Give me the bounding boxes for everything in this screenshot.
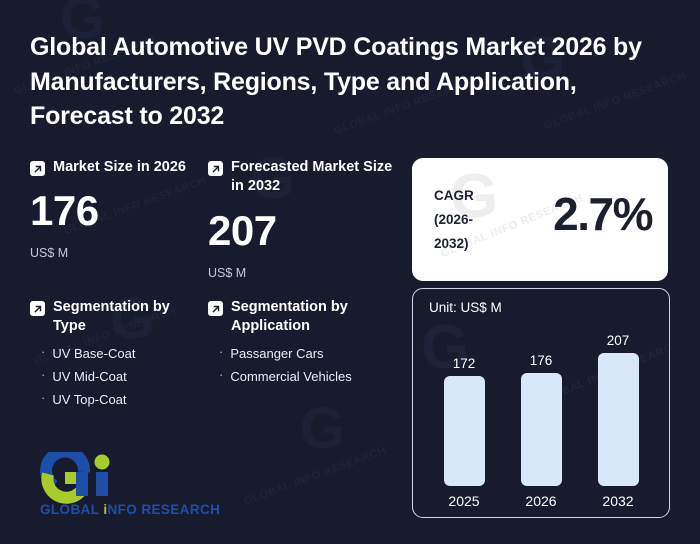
bar-column: 172 2025 bbox=[441, 356, 487, 509]
segmentation-header: Segmentation by Application bbox=[208, 298, 403, 337]
arrow-up-right-icon bbox=[208, 161, 223, 176]
segmentation-heading: Segmentation by Type bbox=[53, 298, 205, 337]
list-item-label: UV Top-Coat bbox=[52, 392, 126, 407]
cagr-label-line3: 2032) bbox=[434, 232, 474, 256]
stat-card-forecast-2032: Forecasted Market Size in 2032 207 US$ M bbox=[208, 158, 403, 280]
bullet-icon: · bbox=[41, 345, 45, 358]
bar-category-label: 2032 bbox=[602, 493, 633, 509]
segmentation-list: · UV Base-Coat · UV Mid-Coat · UV Top-Co… bbox=[30, 346, 205, 407]
bullet-icon: · bbox=[41, 368, 45, 381]
bar-chart-card: G GLOBAL INFO RESEARCH Unit: US$ M 172 2… bbox=[412, 288, 670, 518]
bar-column: 207 2032 bbox=[595, 333, 641, 509]
list-item-label: Passanger Cars bbox=[230, 346, 323, 361]
segmentation-heading: Segmentation by Application bbox=[231, 298, 403, 337]
segmentation-by-application: Segmentation by Application · Passanger … bbox=[208, 298, 403, 392]
arrow-up-right-icon bbox=[30, 301, 45, 316]
arrow-up-right-icon bbox=[30, 161, 45, 176]
bar-category-label: 2026 bbox=[525, 493, 556, 509]
stat-unit: US$ M bbox=[30, 246, 205, 260]
cagr-card: G GLOBAL INFO RESEARCH CAGR (2026- 2032)… bbox=[412, 158, 668, 281]
cagr-label: CAGR (2026- 2032) bbox=[434, 184, 474, 256]
bar bbox=[521, 373, 562, 486]
chart-plot-area: 172 2025 176 2026 207 2032 bbox=[413, 329, 669, 517]
list-item: · Passanger Cars bbox=[208, 346, 403, 361]
bullet-icon: · bbox=[41, 391, 45, 404]
gi-monogram-icon bbox=[40, 452, 132, 504]
bar-value-label: 207 bbox=[607, 333, 630, 348]
segmentation-by-type: Segmentation by Type · UV Base-Coat · UV… bbox=[30, 298, 205, 415]
list-item-label: Commercial Vehicles bbox=[230, 369, 351, 384]
cagr-value: 2.7% bbox=[553, 182, 652, 246]
watermark-mark: G bbox=[300, 400, 345, 458]
stat-value: 207 bbox=[208, 210, 403, 252]
cagr-label-line1: CAGR bbox=[434, 184, 474, 208]
logo-text-part2: NFO RESEARCH bbox=[107, 502, 220, 517]
page-title: Global Automotive UV PVD Coatings Market… bbox=[30, 30, 660, 134]
list-item: · Commercial Vehicles bbox=[208, 369, 403, 384]
list-item-label: UV Base-Coat bbox=[52, 346, 135, 361]
stat-card-market-size-2026: Market Size in 2026 176 US$ M bbox=[30, 158, 205, 260]
stat-heading: Market Size in 2026 bbox=[53, 158, 186, 177]
bullet-icon: · bbox=[219, 368, 223, 381]
bar-value-label: 176 bbox=[530, 353, 553, 368]
bar bbox=[444, 376, 485, 486]
cagr-label-line2: (2026- bbox=[434, 208, 474, 232]
arrow-up-right-icon bbox=[208, 301, 223, 316]
bar bbox=[598, 353, 639, 486]
bar-column: 176 2026 bbox=[518, 353, 564, 509]
bar-value-label: 172 bbox=[453, 356, 476, 371]
stat-unit: US$ M bbox=[208, 266, 403, 280]
stat-heading: Forecasted Market Size in 2032 bbox=[231, 158, 403, 197]
stat-header: Market Size in 2026 bbox=[30, 158, 205, 177]
stat-value: 176 bbox=[30, 190, 205, 232]
list-item: · UV Top-Coat bbox=[30, 392, 205, 407]
poster-root: G GLOBAL INFO RESEARCH G GLOBAL INFO RES… bbox=[0, 0, 700, 544]
list-item-label: UV Mid-Coat bbox=[52, 369, 126, 384]
list-item: · UV Mid-Coat bbox=[30, 369, 205, 384]
logo-wordmark: GLOBAL iNFO RESEARCH bbox=[40, 502, 220, 517]
watermark-text: GLOBAL INFO RESEARCH bbox=[242, 445, 387, 508]
segmentation-list: · Passanger Cars · Commercial Vehicles bbox=[208, 346, 403, 384]
chart-unit-label: Unit: US$ M bbox=[429, 300, 502, 315]
segmentation-header: Segmentation by Type bbox=[30, 298, 205, 337]
bar-category-label: 2025 bbox=[448, 493, 479, 509]
logo: GLOBAL iNFO RESEARCH bbox=[40, 452, 210, 524]
bullet-icon: · bbox=[219, 345, 223, 358]
stat-header: Forecasted Market Size in 2032 bbox=[208, 158, 403, 197]
logo-text-part1: GLOBAL bbox=[40, 502, 103, 517]
list-item: · UV Base-Coat bbox=[30, 346, 205, 361]
